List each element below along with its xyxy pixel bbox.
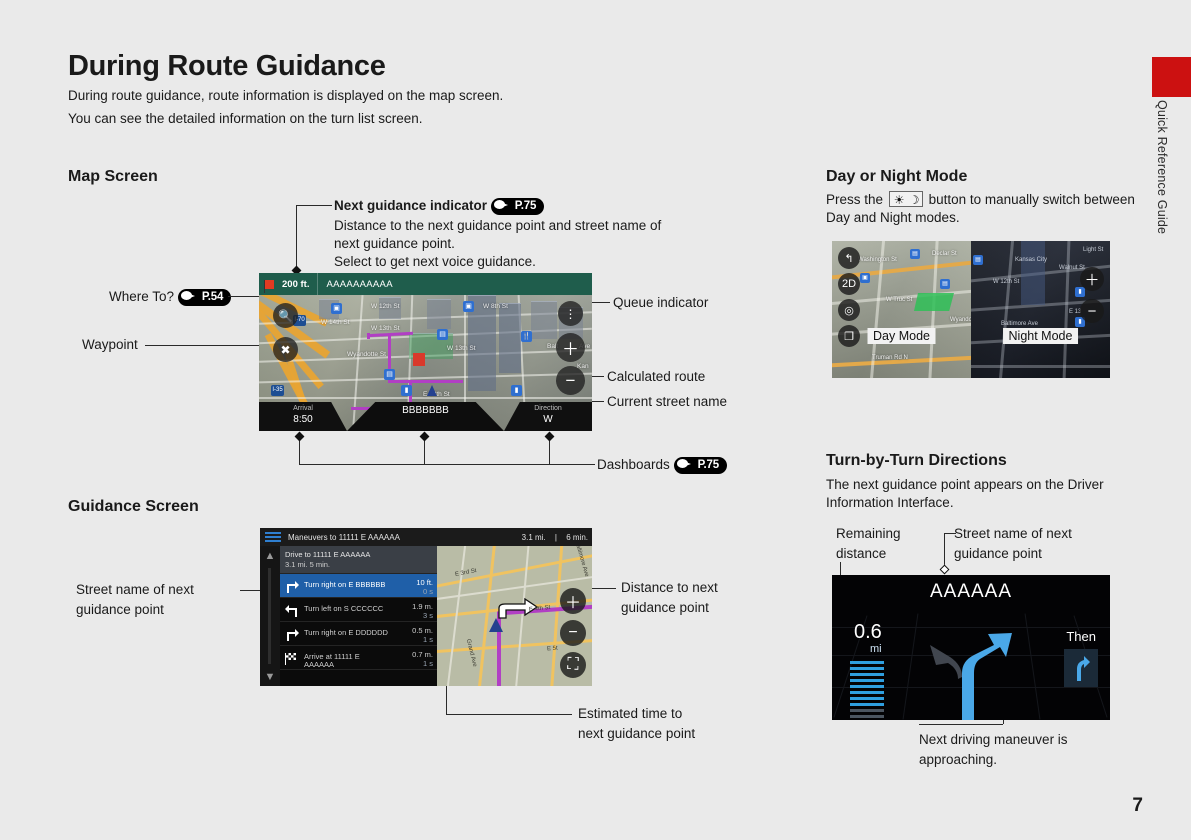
leader-anchor — [545, 432, 555, 442]
map-street-label: Grand Ave — [465, 639, 478, 668]
guidance-total-distance: 3.1 mi. — [522, 533, 546, 542]
day-night-text-before: Press the — [826, 192, 883, 207]
expand-icon[interactable]: ⛶ — [560, 652, 586, 678]
dii-remaining-distance: 0.6 — [854, 623, 882, 642]
list-item[interactable]: Turn right on E DDDDDD 0.5 m. 1 s — [280, 622, 437, 646]
map-street-label: Wyandotte St — [347, 351, 386, 358]
dashboard-cell-arrival[interactable]: Arrival 8:50 — [259, 402, 347, 431]
layers-icon[interactable]: ❐ — [838, 325, 860, 347]
maneuver-text: Turn left on S CCCCCC — [304, 604, 383, 613]
map-street-label: W 13th St — [447, 345, 476, 352]
list-item[interactable]: Turn left on S CCCCCC 1.9 m. 3 s — [280, 598, 437, 622]
map-street-label: Declar St — [932, 251, 957, 257]
day-night-comparison-image: ▤ ▣ ▤ Washington St Declar St W Truc St … — [832, 241, 1110, 378]
callout-dashboards: Dashboards P.75 — [597, 456, 727, 474]
map-street-label: Light St — [1083, 247, 1103, 253]
scroll-up-icon[interactable]: ▲ — [264, 550, 276, 562]
dashboard-direction-value: W — [504, 414, 592, 425]
callout-estimated-time-line-1: Estimated time to — [578, 705, 682, 722]
leader-line — [296, 205, 297, 270]
poi-icon: 🍴 — [521, 331, 532, 342]
poi-icon: ▮ — [511, 385, 522, 396]
guidance-scrollbar[interactable]: ▲ ▼ — [260, 546, 280, 686]
poi-icon: ▣ — [860, 273, 870, 283]
maneuver-time: 1 s — [423, 635, 433, 644]
maneuver-time: 0 s — [423, 587, 433, 596]
page-ref-p54-where-to[interactable]: P.54 — [178, 289, 231, 306]
map-dashboard-bar: Arrival 8:50 BBBBBBB Direction W — [259, 402, 592, 431]
map-street-label: E 5t — [547, 646, 558, 653]
callout-next-guidance-indicator: Next guidance indicator P.75 — [334, 197, 544, 215]
scroll-down-icon[interactable]: ▼ — [264, 671, 276, 683]
list-item[interactable]: Drive to 11111 E AAAAAA 3.1 mi. 5 min. — [280, 546, 437, 574]
page-ref-p75-next-guidance[interactable]: P.75 — [491, 198, 544, 215]
map-street-label: Washington St — [858, 257, 897, 263]
callout-next-guidance-line-3: Select to get next voice guidance. — [334, 253, 536, 270]
page-ref-text: P.54 — [202, 291, 223, 303]
callout-street-name-dii-line-1: Street name of next — [954, 525, 1072, 542]
back-icon[interactable]: ↰ — [838, 247, 860, 269]
leader-line — [919, 724, 1003, 725]
map-street — [477, 546, 497, 686]
callout-next-guidance-indicator-label: Next guidance indicator — [334, 198, 487, 213]
zoom-out-icon[interactable]: − — [556, 366, 585, 395]
more-options-icon[interactable]: ⋮ — [558, 301, 583, 326]
maneuver-text: Drive to 11111 E AAAAAA — [285, 550, 370, 559]
leader-line — [944, 533, 956, 534]
map-street-label: W 12th St — [371, 303, 400, 310]
heading-turn-by-turn: Turn-by-Turn Directions — [826, 452, 1007, 470]
vehicle-position-icon — [427, 385, 437, 396]
poi-icon: ▤ — [437, 329, 448, 340]
callout-next-maneuver-line-2: approaching. — [919, 751, 997, 768]
callout-current-street-name: Current street name — [607, 393, 727, 410]
intro-line-1: During route guidance, route information… — [68, 88, 503, 103]
divider: | — [555, 533, 557, 542]
map-street-label: Truman Rd N — [872, 355, 908, 361]
destination-flag-icon — [264, 280, 274, 289]
zoom-out-icon[interactable]: − — [560, 620, 586, 646]
callout-street-name-next-line-1: Street name of next — [76, 581, 194, 598]
maneuver-subtext: 3.1 mi. 5 min. — [285, 560, 330, 569]
map-screen-screenshot: ▣ ▣ ▤ 🍴 ▤ ▮ ▮ I-70 I-35 W 14th St W 13th… — [259, 273, 592, 431]
night-mode-label: Night Mode — [1003, 328, 1079, 344]
callout-waypoint: Waypoint — [82, 336, 138, 353]
page-ref-text: P.75 — [515, 200, 536, 212]
dashboard-cell-direction[interactable]: Direction W — [504, 402, 592, 431]
dashboard-direction-title: Direction — [504, 405, 592, 412]
callout-calculated-route: Calculated route — [607, 368, 705, 385]
dashboard-street-value: BBBBBBB — [347, 405, 504, 416]
dii-distance-unit: mi — [870, 643, 882, 655]
building — [531, 301, 557, 339]
map-street-label: W 13th St — [371, 325, 400, 332]
callout-remaining-distance-line-2: distance — [836, 545, 886, 562]
dii-distance-bars — [850, 661, 884, 720]
leader-line — [296, 205, 332, 206]
guidance-total-time: 6 min. — [566, 533, 588, 542]
intro-line-2: You can see the detailed information on … — [68, 111, 422, 126]
turn-by-turn-description: The next guidance point appears on the D… — [826, 476, 1126, 512]
page-ref-text: P.75 — [698, 459, 719, 471]
maneuver-distance: 10 ft. — [416, 578, 433, 587]
dashboard-cell-street[interactable]: BBBBBBB — [347, 402, 504, 431]
dii-then-label: Then — [1066, 629, 1096, 644]
waypoint-icon[interactable]: ✖ — [273, 337, 298, 362]
maneuver-time: 1 s — [423, 659, 433, 668]
callout-next-guidance-line-1: Distance to the next guidance point and … — [334, 217, 661, 234]
section-tab-marker — [1152, 57, 1191, 97]
heading-map-screen: Map Screen — [68, 168, 158, 186]
day-mode-map: ▤ ▣ ▤ Washington St Declar St W Truc St … — [832, 241, 971, 378]
map-street-label: W Truc St — [886, 297, 912, 303]
callout-estimated-time-line-2: next guidance point — [578, 725, 695, 742]
map-street-label: Wyandotte St — [950, 317, 971, 323]
poi-icon: ▤ — [384, 369, 395, 380]
callout-remaining-distance-line-1: Remaining — [836, 525, 901, 542]
guidance-summary: 3.1 mi. | 6 min. — [515, 533, 588, 542]
zoom-in-icon[interactable]: ＋ — [556, 333, 585, 362]
poi-icon: ▣ — [331, 303, 342, 314]
zoom-in-icon[interactable]: ＋ — [560, 588, 586, 614]
driver-information-interface: AAAAAA 0.6 mi Then — [832, 575, 1110, 720]
day-night-button-icon: ☀ ☽ — [889, 191, 923, 207]
callout-queue-indicator: Queue indicator — [613, 294, 708, 311]
arrow-icon — [494, 199, 512, 210]
zoom-in-icon[interactable]: ＋ — [1080, 267, 1104, 291]
turn-left-icon — [284, 603, 300, 618]
maneuver-time: 3 s — [423, 611, 433, 620]
route-shield-icon: I-35 — [271, 385, 284, 396]
leader-line — [299, 464, 595, 465]
callout-where-to: Where To? P.54 — [109, 288, 231, 306]
dii-street-name: AAAAAA — [832, 581, 1110, 603]
callout-distance-next-line-2: guidance point — [621, 599, 709, 616]
guidance-maneuver-list[interactable]: Drive to 11111 E AAAAAA 3.1 mi. 5 min. T… — [280, 546, 437, 686]
arrow-icon — [677, 458, 695, 469]
guidance-map-preview[interactable]: E 3rd St E 4th St E 5t Baltimore Ave Gra… — [437, 546, 592, 686]
map-street-label: W 8th St — [483, 303, 508, 310]
map-street-label: Kansas City — [1015, 257, 1047, 263]
leader-anchor — [420, 432, 430, 442]
map-street-label: Walnut St — [1059, 265, 1085, 271]
building — [1021, 241, 1045, 305]
list-item[interactable]: Turn right on E BBBBBB 10 ft. 0 s — [280, 574, 437, 598]
callout-next-guidance-line-2: next guidance point. — [334, 235, 455, 252]
next-guidance-street-name: AAAAAAAAAA — [326, 279, 392, 290]
arrow-icon — [181, 290, 199, 301]
compass-icon[interactable]: ◎ — [838, 299, 860, 321]
poi-icon: ▤ — [940, 279, 950, 289]
leader-anchor — [940, 565, 950, 575]
turn-right-icon — [284, 579, 300, 594]
park-area — [914, 293, 954, 311]
hamburger-icon[interactable] — [265, 530, 281, 544]
poi-icon: ▮ — [401, 385, 412, 396]
poi-icon: ▤ — [910, 249, 920, 259]
page-number: 7 — [1132, 795, 1143, 817]
night-mode-map: ▤ ▮ ▮ Kansas City Walnut St W 12th St E … — [971, 241, 1110, 378]
divider — [317, 273, 318, 295]
destination-marker — [413, 353, 425, 366]
callout-distance-next-line-1: Distance to next — [621, 579, 718, 596]
heading-guidance-screen: Guidance Screen — [68, 498, 199, 516]
maneuver-text: Turn right on E DDDDDD — [304, 628, 388, 637]
guidance-title: Maneuvers to 11111 E AAAAAA — [288, 533, 400, 542]
turn-right-icon — [284, 627, 300, 642]
list-item[interactable]: Arrive at 11111 E AAAAAA 0.7 m. 1 s — [280, 646, 437, 670]
guidance-top-bar: Maneuvers to 11111 E AAAAAA 3.1 mi. | 6 … — [260, 528, 592, 546]
calculated-route-segment — [388, 380, 463, 383]
zoom-out-icon[interactable]: − — [1080, 299, 1104, 323]
poi-icon: ▣ — [463, 301, 474, 312]
dashboard-arrival-value: 8:50 — [259, 414, 347, 425]
map-street-label: Baltimore Ave — [573, 546, 589, 578]
map-street-label: Baltimore Ave — [1001, 321, 1038, 327]
callout-street-name-dii-line-2: guidance point — [954, 545, 1042, 562]
callout-where-to-label: Where To? — [109, 289, 174, 304]
heading-day-night-mode: Day or Night Mode — [826, 168, 967, 186]
dii-next-maneuver-icon — [1064, 649, 1098, 687]
maneuver-distance: 0.5 m. — [412, 626, 433, 635]
dii-maneuver-arrow-icon — [928, 621, 1024, 720]
search-icon[interactable]: 🔍 — [273, 303, 298, 328]
maneuver-subtext: AAAAAA — [304, 660, 334, 669]
day-night-description: Press the ☀ ☽ button to manually switch … — [826, 191, 1156, 227]
day-mode-label: Day Mode — [867, 328, 936, 344]
maneuver-distance: 1.9 m. — [412, 602, 433, 611]
page-title: During Route Guidance — [68, 50, 386, 83]
callout-dashboards-label: Dashboards — [597, 457, 670, 472]
map-street-label: W 14th St — [321, 319, 350, 326]
leader-anchor — [295, 432, 305, 442]
guidance-screen-screenshot: Maneuvers to 11111 E AAAAAA 3.1 mi. | 6 … — [260, 528, 592, 686]
callout-street-name-next-line-2: guidance point — [76, 601, 164, 618]
next-guidance-indicator-bar[interactable]: 200 ft. AAAAAAAAAA — [259, 273, 592, 295]
leader-line — [446, 714, 572, 715]
next-guidance-distance: 200 ft. — [282, 279, 309, 290]
finish-flag-icon — [284, 651, 300, 666]
map-view-2d-button[interactable]: 2D — [838, 273, 860, 295]
dashboard-arrival-title: Arrival — [259, 405, 347, 412]
building — [427, 299, 451, 329]
building — [499, 303, 521, 373]
maneuver-text: Turn right on E BBBBBB — [304, 580, 385, 589]
moon-icon: ☽ — [909, 194, 920, 206]
map-street-label: W 12th St — [993, 279, 1019, 285]
poi-icon: ▤ — [973, 255, 983, 265]
scroll-track[interactable] — [268, 568, 271, 664]
callout-next-maneuver-line-1: Next driving maneuver is — [919, 731, 1068, 748]
page-ref-p75-dashboards[interactable]: P.75 — [674, 457, 727, 474]
map-street — [971, 365, 1110, 368]
manual-page: Quick Reference Guide During Route Guida… — [0, 0, 1191, 840]
sun-icon: ☀ — [894, 195, 904, 205]
maneuver-distance: 0.7 m. — [412, 650, 433, 659]
